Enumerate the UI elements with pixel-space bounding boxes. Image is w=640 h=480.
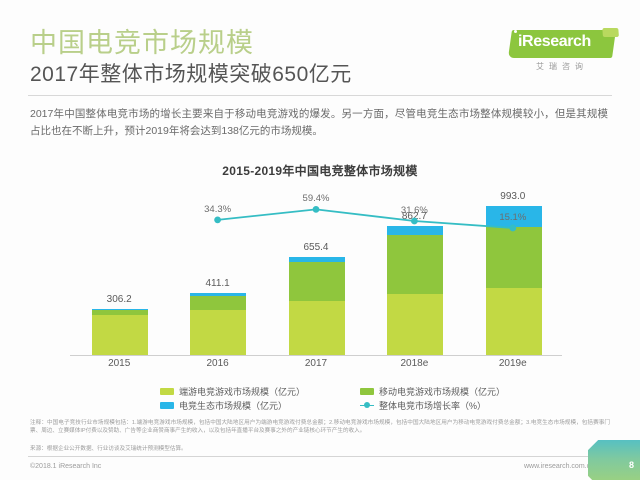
- legend-item-pc: 端游电竞游戏市场规模（亿元）: [160, 385, 360, 398]
- summary-paragraph: 2017年中国整体电竞市场的增长主要来自于移动电竞游戏的爆发。另一方面，尽管电竞…: [30, 106, 608, 140]
- bar-segment-pc: [190, 310, 246, 355]
- iresearch-logo: iResearch 艾瑞咨询: [500, 30, 618, 76]
- bar-segment-mobile: [289, 262, 345, 301]
- legend-item-growth: 整体电竞市场增长率（%）: [360, 399, 560, 412]
- bar-segment-eco: [387, 226, 443, 235]
- bar-value-label: 411.1: [168, 278, 266, 289]
- page-subtitle: 2017年整体市场规模突破650亿元: [30, 62, 352, 88]
- x-axis-label: 2017: [267, 358, 365, 369]
- legend-swatch-growth-line-icon: [360, 402, 374, 409]
- growth-rate-label: 59.4%: [286, 193, 346, 204]
- chart-legend: 端游电竞游戏市场规模（亿元） 移动电竞游戏市场规模（亿元） 电竞生态市场规模（亿…: [160, 384, 560, 412]
- page-number: 8: [629, 460, 634, 470]
- x-axis-line: [70, 355, 562, 356]
- bar-segment-pc: [387, 294, 443, 356]
- header-divider: [28, 95, 612, 96]
- x-axis-label: 2015: [70, 358, 168, 369]
- chart-title: 2015-2019年中国电竞整体市场规模: [0, 162, 640, 179]
- legend-label-eco: 电竞生态市场规模（亿元）: [179, 399, 287, 412]
- legend-item-mobile: 移动电竞游戏市场规模（亿元）: [360, 385, 560, 398]
- bar-segment-mobile: [190, 296, 246, 310]
- growth-rate-label: 15.1%: [483, 212, 543, 223]
- website-url: www.iresearch.com.cn: [524, 463, 594, 470]
- logo-chinese-name: 艾瑞咨询: [514, 61, 610, 72]
- bar-segment-pc: [92, 315, 148, 355]
- bar-value-label: 993.0: [464, 191, 562, 202]
- footer-divider: [28, 456, 612, 457]
- x-axis-label: 2019e: [464, 358, 562, 369]
- legend-label-pc: 端游电竞游戏市场规模（亿元）: [179, 385, 305, 398]
- legend-swatch-eco-icon: [160, 402, 174, 409]
- bar-column: [70, 190, 168, 355]
- growth-rate-label: 31.6%: [384, 205, 444, 216]
- footnote: 注释：中国电子竞技行业市场规模包括：1.端游电竞游戏市场规模，包括中国大陆地区用…: [30, 419, 610, 435]
- legend-swatch-pc-icon: [160, 388, 174, 395]
- bar-value-label: 306.2: [70, 294, 168, 305]
- legend-label-growth: 整体电竞市场增长率（%）: [379, 399, 486, 412]
- copyright: ©2018.1 iResearch Inc: [30, 463, 101, 470]
- bar-column: [267, 190, 365, 355]
- x-axis-label: 2018e: [365, 358, 463, 369]
- growth-rate-label: 34.3%: [188, 204, 248, 215]
- source-note: 来源：根据企业公开数据、行业访谈及艾瑞统计预测模型估算。: [30, 445, 610, 453]
- stacked-bar: [190, 293, 246, 355]
- bar-segment-mobile: [387, 235, 443, 294]
- stacked-bar: [92, 309, 148, 355]
- stacked-bar: [289, 257, 345, 355]
- stacked-bar: [486, 206, 542, 355]
- logo-dot-icon: [514, 30, 517, 33]
- bar-segment-pc: [289, 301, 345, 355]
- slide-page: 中国电竞市场规模 2017年整体市场规模突破650亿元 iResearch 艾瑞…: [0, 0, 640, 480]
- legend-item-eco: 电竞生态市场规模（亿元）: [160, 399, 360, 412]
- bar-segment-pc: [486, 288, 542, 356]
- bar-value-label: 655.4: [267, 242, 365, 253]
- stacked-bar: [387, 226, 443, 355]
- logo-wordmark: iResearch: [518, 33, 618, 51]
- legend-label-mobile: 移动电竞游戏市场规模（亿元）: [379, 385, 505, 398]
- bar-segment-mobile: [486, 227, 542, 288]
- legend-swatch-mobile-icon: [360, 388, 374, 395]
- page-title: 中国电竞市场规模: [30, 27, 254, 59]
- x-axis-label: 2016: [168, 358, 266, 369]
